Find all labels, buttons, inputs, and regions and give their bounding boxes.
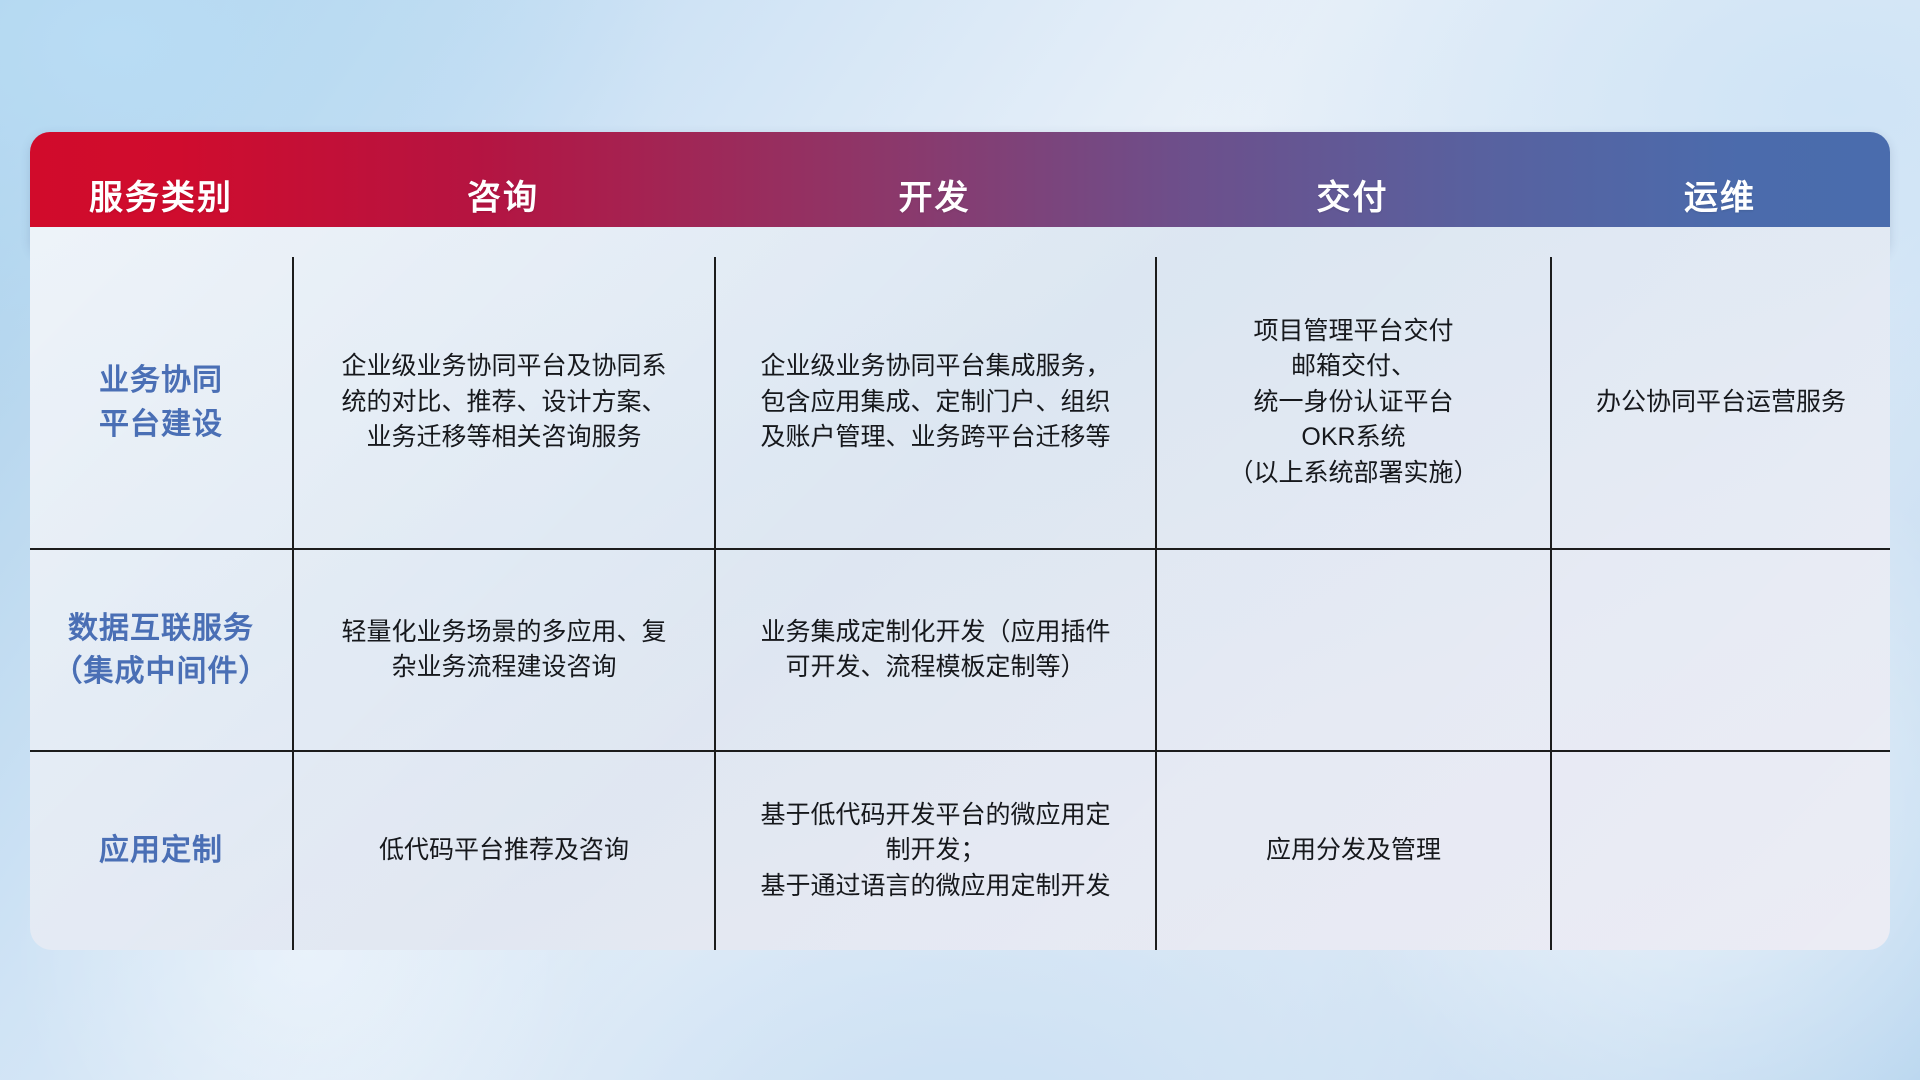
column-header-development: 开发 — [714, 170, 1155, 219]
cell-category: 应用定制 — [30, 752, 292, 950]
column-header-delivery: 交付 — [1155, 170, 1550, 219]
cell-operations — [1550, 752, 1890, 950]
cell-consulting: 低代码平台推荐及咨询 — [292, 752, 714, 950]
column-header-category: 服务类别 — [30, 170, 292, 219]
cell-operations: 办公协同平台运营服务 — [1550, 257, 1890, 548]
cell-development: 企业级业务协同平台集成服务， 包含应用集成、定制门户、组织 及账户管理、业务跨平… — [714, 257, 1155, 548]
cell-delivery: 项目管理平台交付 邮箱交付、 统一身份认证平台 OKR系统 （以上系统部署实施） — [1155, 257, 1550, 548]
cell-development: 基于低代码开发平台的微应用定 制开发； 基于通过语言的微应用定制开发 — [714, 752, 1155, 950]
column-header-consulting: 咨询 — [292, 170, 714, 219]
cell-operations — [1550, 550, 1890, 750]
cell-consulting: 轻量化业务场景的多应用、复 杂业务流程建设咨询 — [292, 550, 714, 750]
service-matrix-table: 服务类别 咨询 开发 交付 运维 业务协同 平台建设 企业级业务协同平台及协同系… — [30, 132, 1890, 950]
table-row: 应用定制 低代码平台推荐及咨询 基于低代码开发平台的微应用定 制开发； 基于通过… — [30, 750, 1890, 950]
cell-development: 业务集成定制化开发（应用插件 可开发、流程模板定制等） — [714, 550, 1155, 750]
cell-delivery: 应用分发及管理 — [1155, 752, 1550, 950]
table-row: 业务协同 平台建设 企业级业务协同平台及协同系 统的对比、推荐、设计方案、 业务… — [30, 257, 1890, 548]
column-header-operations: 运维 — [1550, 170, 1890, 219]
table-row: 数据互联服务 （集成中间件） 轻量化业务场景的多应用、复 杂业务流程建设咨询 业… — [30, 548, 1890, 750]
cell-delivery — [1155, 550, 1550, 750]
cell-consulting: 企业级业务协同平台及协同系 统的对比、推荐、设计方案、 业务迁移等相关咨询服务 — [292, 257, 714, 548]
cell-category: 数据互联服务 （集成中间件） — [30, 550, 292, 750]
table-body: 业务协同 平台建设 企业级业务协同平台及协同系 统的对比、推荐、设计方案、 业务… — [30, 227, 1890, 950]
cell-category: 业务协同 平台建设 — [30, 257, 292, 548]
